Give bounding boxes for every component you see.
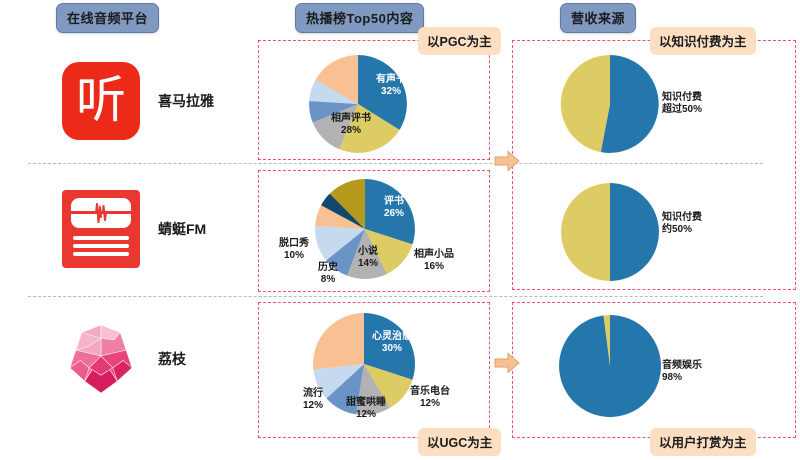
callout-pgc: 以PGC为主	[418, 27, 501, 55]
platform-name-lizhi: 荔枝	[158, 349, 186, 369]
column-header-platform: 在线音频平台	[56, 3, 159, 33]
callout-tip: 以用户打赏为主	[650, 428, 756, 456]
pie-label-pingshu: 评书26%	[374, 196, 414, 220]
row-separator-2	[28, 296, 763, 297]
pie-label-lishi: 历史8%	[312, 262, 344, 286]
pie-label-audio-entertainment: 音频娱乐98%	[662, 360, 718, 384]
lizhi-polyhedron-icon	[64, 322, 138, 396]
logo-bar-3	[73, 252, 129, 256]
ximalaya-logo-glyph: 听	[76, 75, 126, 125]
ximalaya-top50-pie	[306, 52, 410, 161]
callout-paid: 以知识付费为主	[650, 27, 756, 55]
qingting-fm-logo-icon	[62, 190, 140, 268]
pie-label-paid-knowledge-2: 知识付费约50%	[662, 212, 718, 236]
pie-label-tianmi-hongshui: 甜蜜哄睡12%	[338, 397, 394, 421]
platform-row-ximalaya: 听 喜马拉雅	[62, 58, 262, 144]
pie-label-liuxing: 流行12%	[296, 388, 330, 412]
pie-label-tuokouxiu: 脱口秀10%	[272, 238, 316, 262]
column-header-top50: 热播榜Top50内容	[295, 3, 424, 33]
pie-label-paid-knowledge-1: 知识付费超过50%	[662, 92, 724, 116]
callout-ugc: 以UGC为主	[418, 428, 501, 456]
pie-label-xiaoshuo: 小说14%	[350, 246, 386, 270]
pie-label-yinyue-diantai: 音乐电台12%	[405, 386, 455, 410]
logo-bar-2	[73, 244, 129, 248]
pie-label-audiobook: 有声书32%	[368, 74, 414, 98]
logo-bar-1	[73, 236, 129, 240]
platform-name-qingting: 蜻蜓FM	[158, 219, 206, 239]
column-header-revenue: 营收来源	[560, 3, 636, 33]
arrow-row-3	[494, 352, 520, 374]
lizhi-logo-icon	[62, 320, 140, 398]
infographic-canvas: 在线音频平台 热播榜Top50内容 营收来源 以PGC为主 以UGC为主 以知识…	[0, 0, 800, 460]
arrow-row-1	[494, 150, 520, 172]
ximalaya-logo-icon: 听	[62, 62, 140, 140]
pie-label-xiangsheng-xiaopin: 相声小品16%	[406, 249, 462, 273]
platform-row-qingting: 蜻蜓FM	[62, 186, 262, 272]
waveform-icon	[92, 200, 110, 226]
platform-row-lizhi: 荔枝	[62, 316, 262, 402]
pie-label-xiangsheng-pingshu: 相声评书28%	[330, 113, 372, 137]
qingting-revenue-pie	[558, 180, 662, 289]
platform-name-ximalaya: 喜马拉雅	[158, 91, 214, 111]
pie-label-xinling-zhiyu: 心灵治愈30%	[366, 331, 418, 355]
lizhi-revenue-pie	[556, 312, 664, 425]
ximalaya-revenue-pie	[558, 52, 662, 161]
